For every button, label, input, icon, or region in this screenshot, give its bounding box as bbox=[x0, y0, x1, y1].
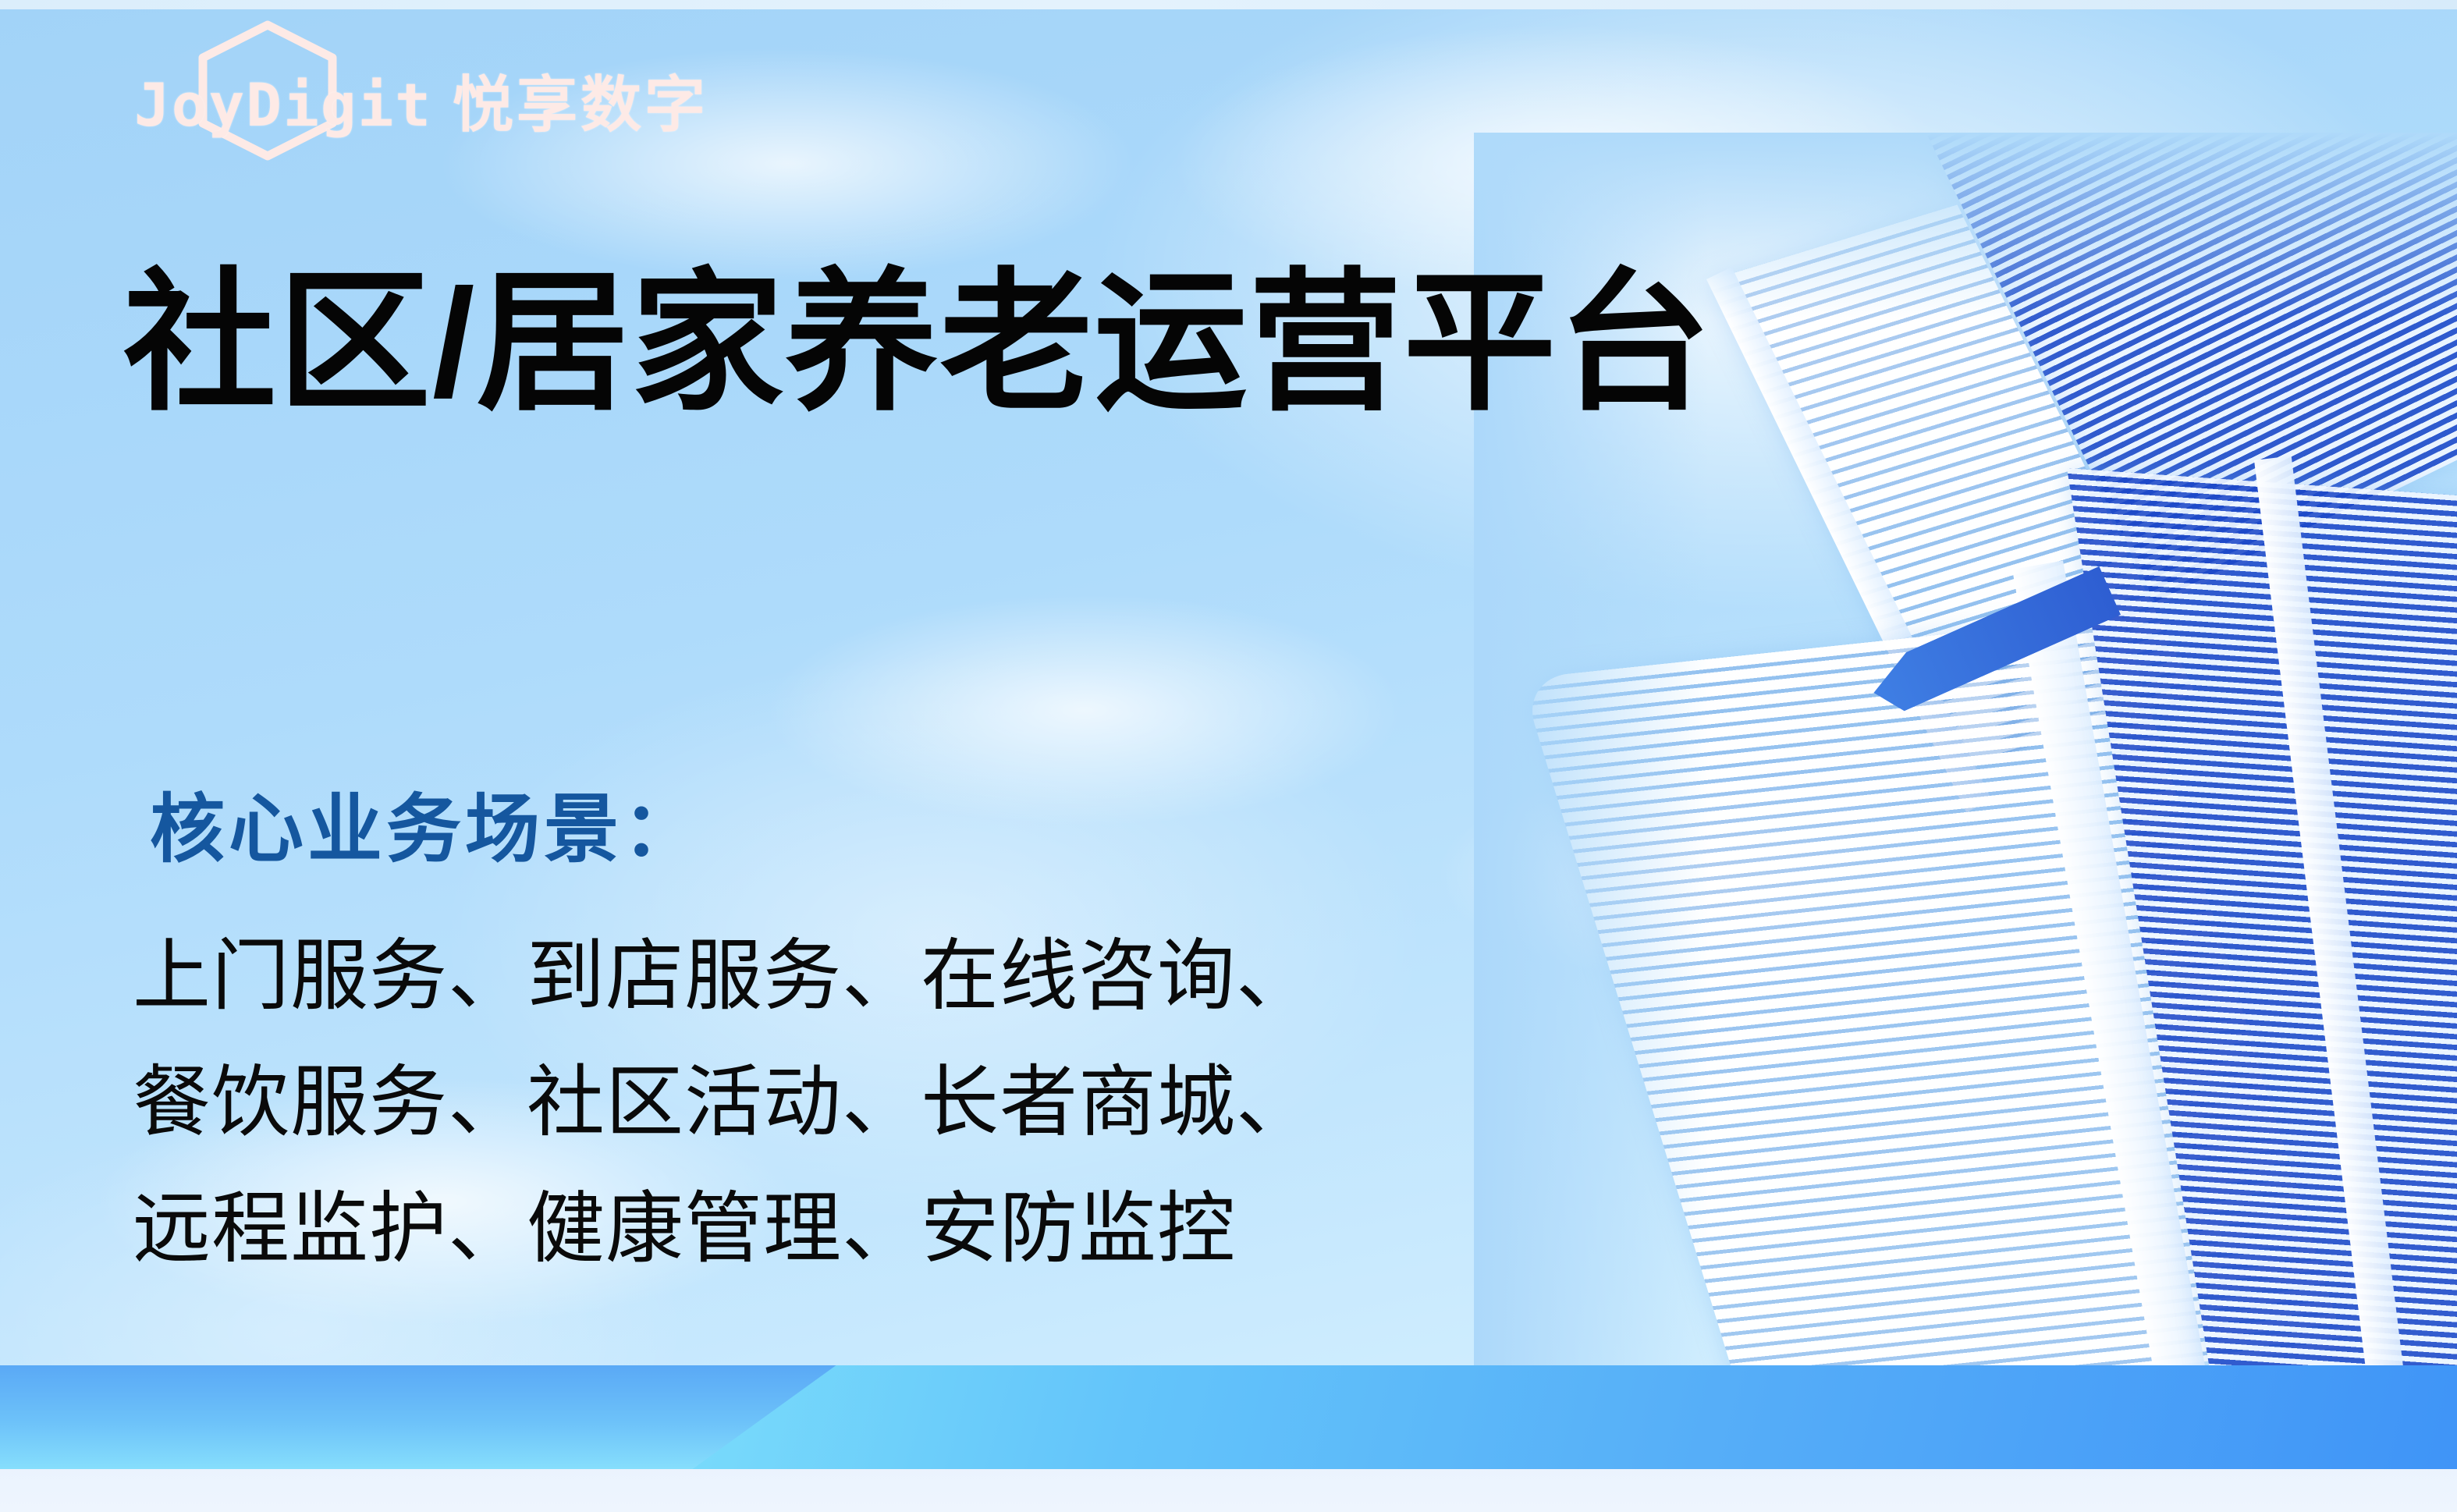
brand-logo[interactable]: JoyDigit 悦享数字 bbox=[134, 17, 727, 165]
ribbon-band-left bbox=[0, 1365, 889, 1469]
scenario-line: 餐饮服务、社区活动、长者商城、 bbox=[133, 1039, 1615, 1166]
building-tower-far bbox=[1911, 133, 2457, 606]
scenario-line: 上门服务、到店服务、在线咨询、 bbox=[133, 913, 1615, 1039]
building-tower-far-side bbox=[1708, 204, 2196, 772]
building-canopy bbox=[1864, 566, 2121, 719]
brand-logo-text: JoyDigit 悦享数字 bbox=[134, 56, 708, 144]
ribbon-bands bbox=[0, 1365, 2457, 1469]
slide-canvas: JoyDigit 悦享数字 社区/居家养老运营平台 核心业务场景： 上门服务、到… bbox=[0, 0, 2457, 1512]
building-tower-main bbox=[1521, 616, 2345, 1381]
bottom-ribbon bbox=[0, 1326, 2457, 1512]
building-right-column bbox=[2254, 456, 2410, 1381]
cloud-shape bbox=[765, 593, 1404, 827]
brand-latin-name: JoyDigit bbox=[134, 70, 432, 140]
scenario-list: 上门服务、到店服务、在线咨询、 餐饮服务、社区活动、长者商城、 远程监护、健康管… bbox=[133, 913, 1615, 1292]
page-title: 社区/居家养老运营平台 bbox=[123, 250, 1712, 436]
top-edge-strip bbox=[0, 0, 2457, 9]
section-heading: 核心业务场景： bbox=[150, 768, 701, 877]
brand-chinese-name: 悦享数字 bbox=[453, 56, 708, 144]
ribbon-band-right bbox=[671, 1365, 2457, 1469]
building-tower-right bbox=[2067, 468, 2457, 1381]
scenario-line: 远程监护、健康管理、安防监控 bbox=[133, 1166, 1615, 1292]
building-corner-column bbox=[2012, 561, 2212, 1381]
building-edge-column bbox=[1706, 267, 1992, 812]
